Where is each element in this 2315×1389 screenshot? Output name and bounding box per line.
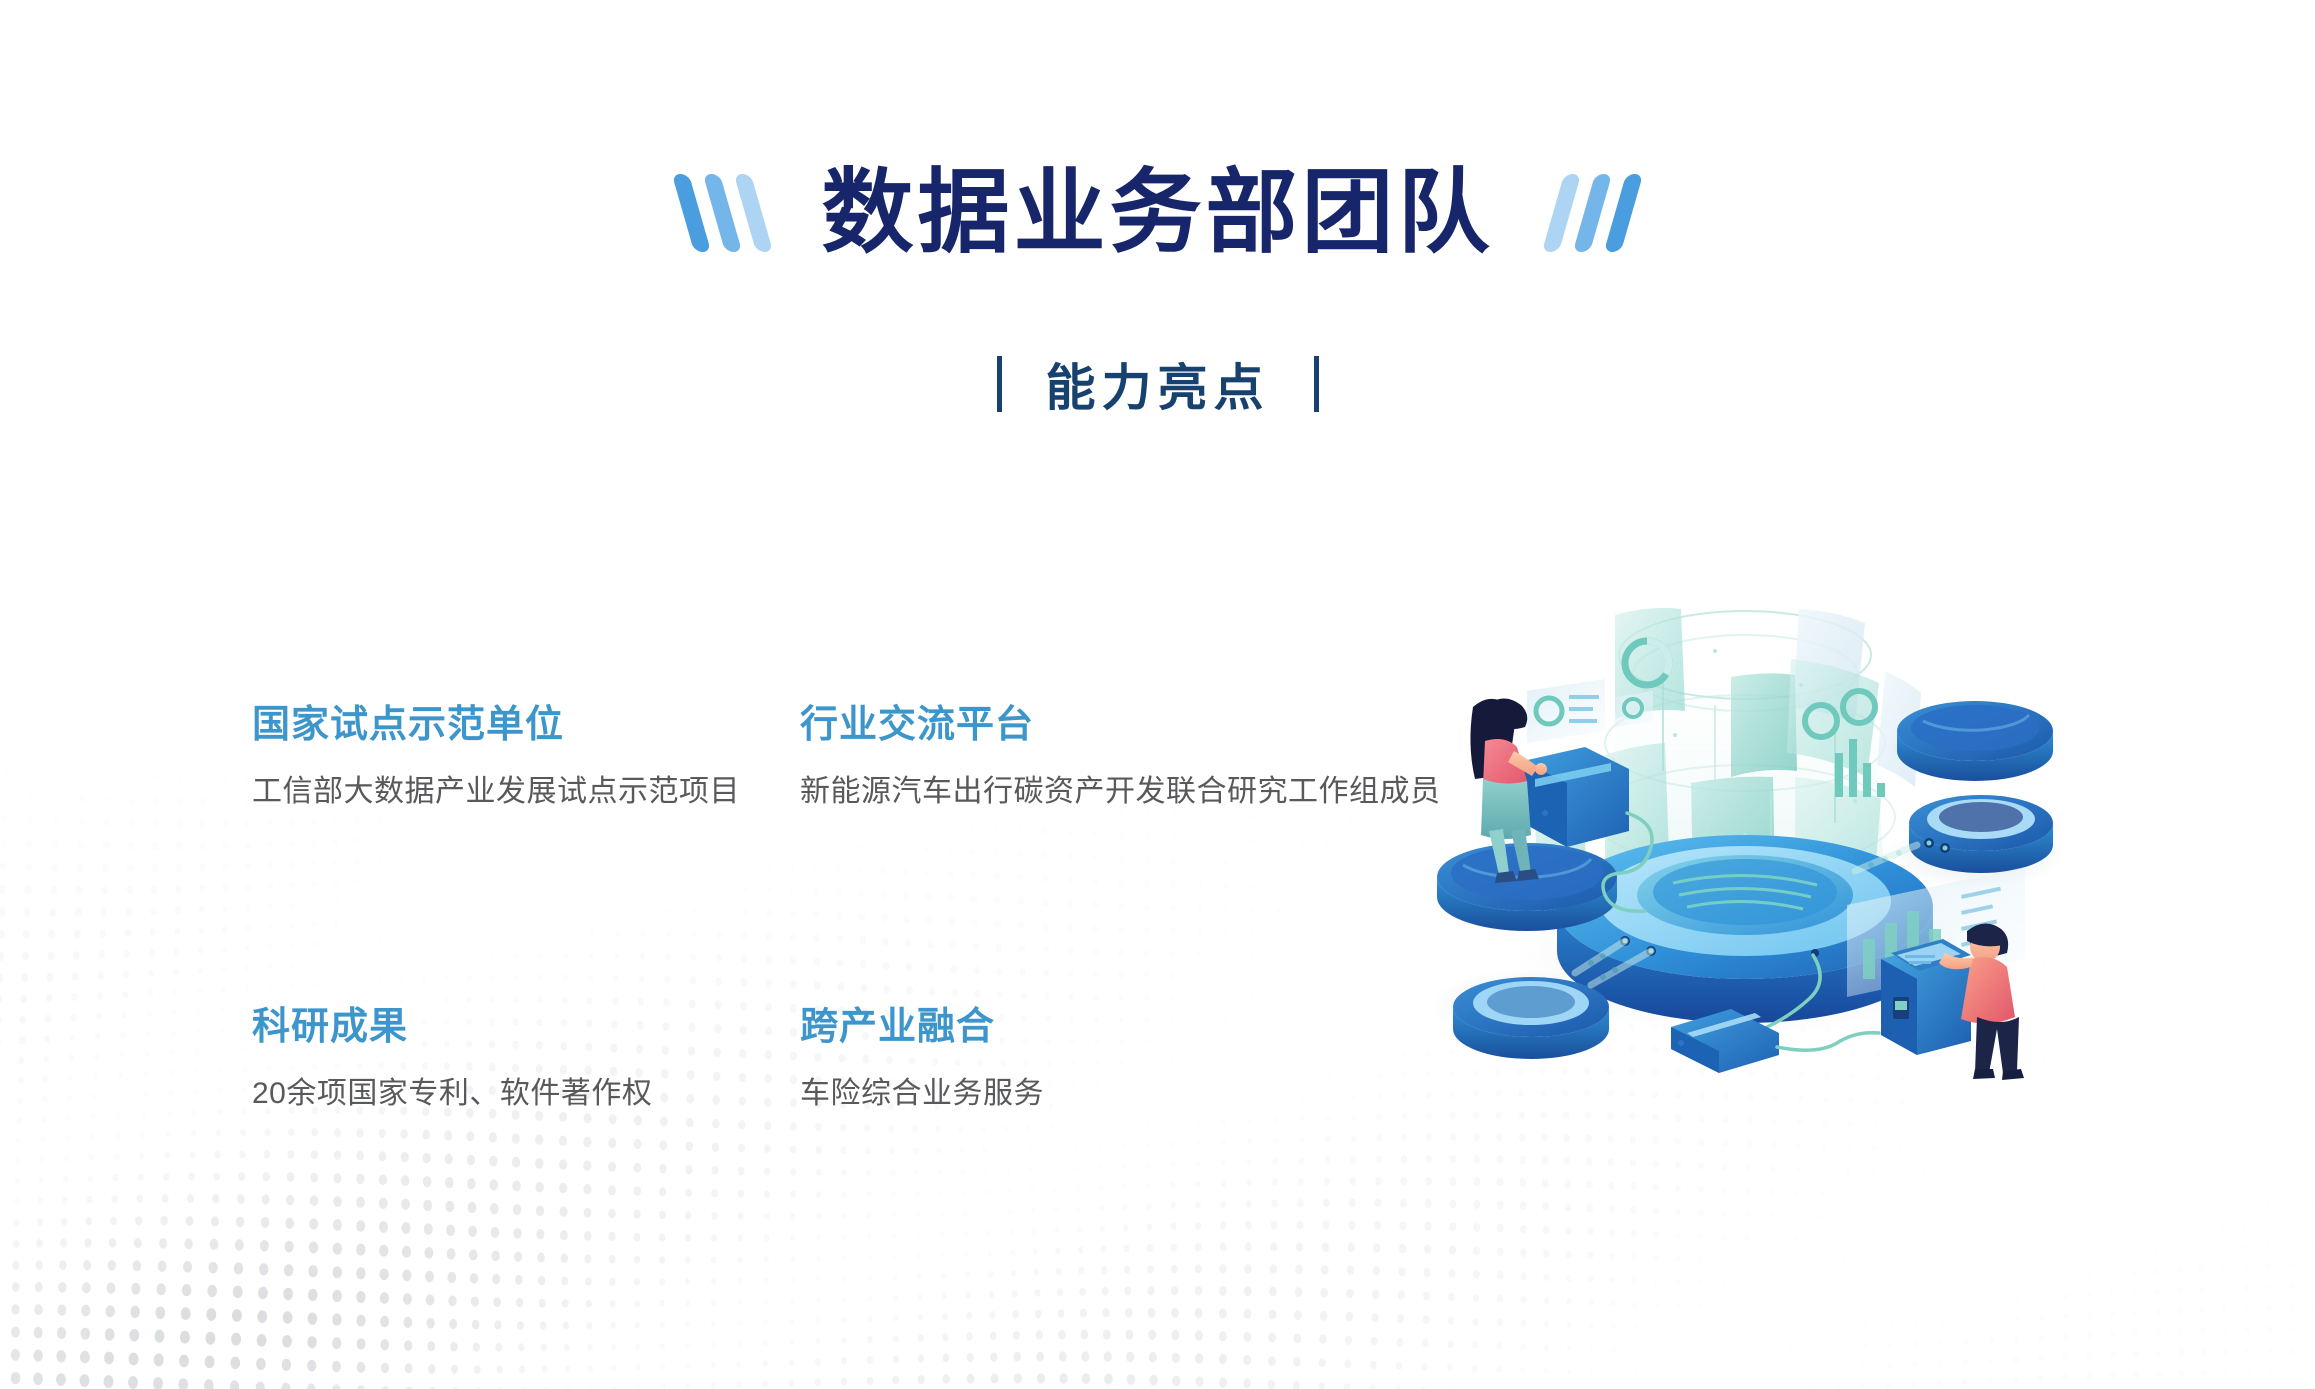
- feature-item-cross-industry: 跨产业融合 车险综合业务服务: [800, 1008, 1412, 1112]
- holo-panel: [1731, 673, 1797, 777]
- triple-slash-right-icon: [1546, 170, 1639, 256]
- blue-disc-device-right: [1893, 701, 2053, 781]
- feature-description: 车险综合业务服务: [800, 1076, 1412, 1112]
- feature-row: 科研成果 20余项国家专利、软件著作权 跨产业融合 车险综合业务服务: [252, 1008, 1412, 1112]
- feature-grid: 国家试点示范单位 工信部大数据产业发展试点示范项目 行业交流平台 新能源汽车出行…: [252, 706, 1412, 1112]
- feature-description: 20余项国家专利、软件著作权: [252, 1076, 800, 1112]
- title-row: 数据业务部团队: [0, 148, 2315, 278]
- slash-bar: [1572, 174, 1611, 252]
- blue-disc-device-left-lower: [1453, 977, 1609, 1059]
- feature-title: 国家试点示范单位: [252, 706, 800, 744]
- feature-description: 工信部大数据产业发展试点示范项目: [252, 774, 800, 810]
- feature-title: 科研成果: [252, 1008, 800, 1046]
- isometric-data-platform-illustration: [1415, 555, 2095, 1085]
- slash-bar: [1603, 174, 1642, 252]
- feature-row: 国家试点示范单位 工信部大数据产业发展试点示范项目 行业交流平台 新能源汽车出行…: [252, 706, 1412, 810]
- feature-item-industry-platform: 行业交流平台 新能源汽车出行碳资产开发联合研究工作组成员: [800, 706, 1412, 810]
- feature-description: 新能源汽车出行碳资产开发联合研究工作组成员: [800, 774, 1412, 810]
- subtitle-row: 能力亮点: [0, 348, 2315, 420]
- network-cable: [1777, 1033, 1879, 1050]
- triple-slash-left-icon: [676, 170, 769, 256]
- slash-bar: [734, 174, 773, 252]
- feature-item-research-results: 科研成果 20余项国家专利、软件著作权: [252, 1008, 800, 1112]
- feature-title: 跨产业融合: [800, 1008, 1412, 1046]
- subtitle: 能力亮点: [1046, 348, 1270, 420]
- subtitle-rule-right: [1314, 356, 1319, 412]
- slash-bar: [1541, 174, 1580, 252]
- page-title: 数据业务部团队: [821, 167, 1493, 259]
- blue-scanner-right: [1909, 795, 2053, 873]
- slide-root: 数据业务部团队 能力亮点 国家试点示范单位 工信部大数据产业发展试点示范项目 行…: [0, 0, 2315, 1389]
- subtitle-rule-left: [997, 356, 1002, 412]
- kiosk-terminal: [1881, 939, 1971, 1055]
- feature-title: 行业交流平台: [800, 706, 1412, 744]
- feature-item-national-pilot: 国家试点示范单位 工信部大数据产业发展试点示范项目: [252, 706, 800, 810]
